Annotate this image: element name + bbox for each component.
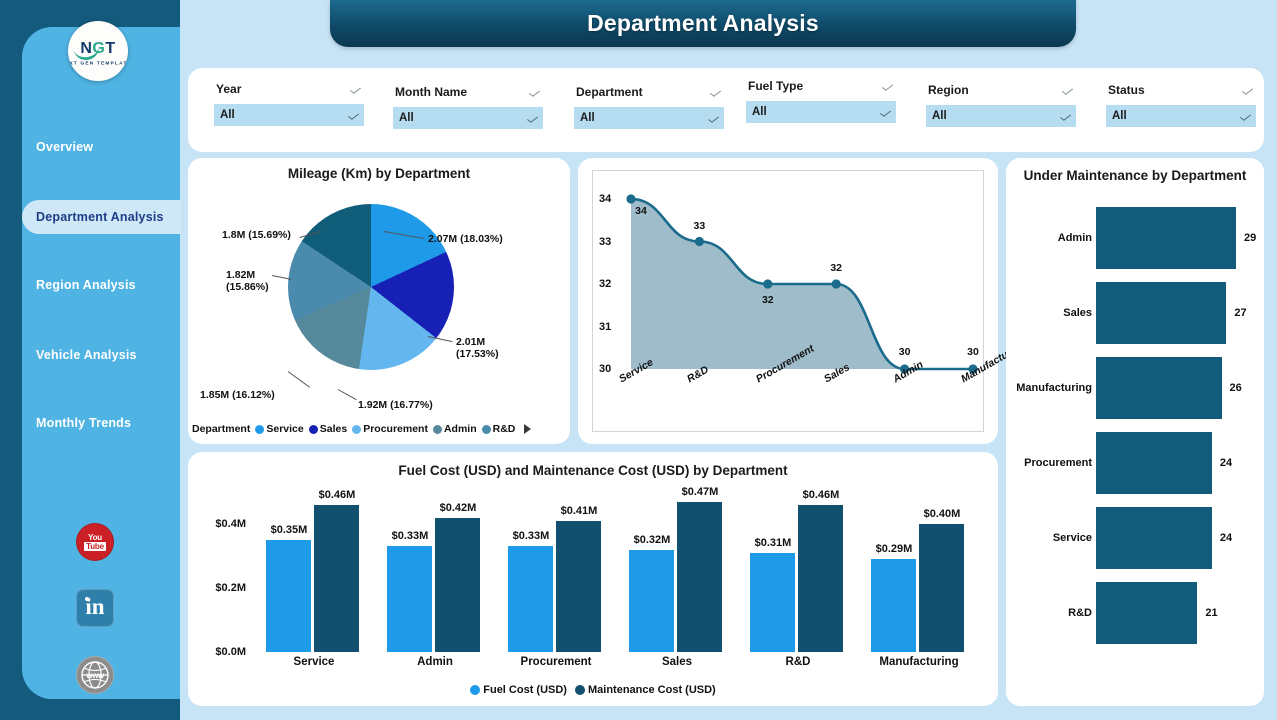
website-label: www [86, 671, 103, 680]
filter-status[interactable]: Status All [1106, 81, 1256, 127]
legend-label: Admin [444, 423, 477, 435]
chevron-down-icon[interactable] [529, 88, 540, 97]
filter-department-label-row: Department [574, 83, 724, 101]
sidebar-item-monthly-trends[interactable]: Monthly Trends [22, 406, 180, 440]
legend-swatch [255, 425, 264, 434]
sidebar-item-label: Department Analysis [36, 210, 164, 224]
sidebar-item-vehicle-analysis[interactable]: Vehicle Analysis [22, 338, 180, 372]
pie-disc[interactable] [288, 204, 454, 370]
filter-fuel-type[interactable]: Fuel Type All [746, 77, 896, 123]
bar-group[interactable]: $0.32M$0.47MSales [617, 492, 737, 652]
x-tick-label: Manufacturing [859, 656, 979, 668]
data-label: 30 [967, 346, 979, 358]
chevron-down-icon[interactable] [1240, 112, 1251, 121]
bar-value-label: 26 [1230, 382, 1242, 394]
data-label: 30 [899, 346, 911, 358]
legend-swatch [482, 425, 491, 434]
legend-item[interactable]: Admin [433, 423, 477, 435]
bar-row[interactable]: Sales27 [1006, 275, 1264, 351]
x-tick-label: Sales [617, 656, 737, 668]
bar-category-label: Procurement [1024, 457, 1092, 469]
dashboard-root: NGT NEXT GEN TEMPLATES Overview Departme… [0, 0, 1277, 720]
filter-month-select[interactable]: All [393, 107, 543, 129]
sidebar-item-department-analysis[interactable]: Department Analysis [22, 200, 180, 234]
bar[interactable] [629, 550, 674, 652]
filter-label: Status [1108, 83, 1145, 97]
youtube-label-bottom: Tube [84, 542, 106, 551]
legend-swatch [470, 685, 480, 695]
bar[interactable] [871, 559, 916, 652]
chevron-down-icon[interactable] [882, 82, 893, 91]
bar-value-label: $0.31M [741, 537, 805, 549]
bar-value-label: 24 [1220, 457, 1232, 469]
active-pill-cap [167, 200, 181, 234]
legend-label: R&D [493, 423, 516, 435]
chevron-down-icon[interactable] [1062, 86, 1073, 95]
bar-value-label: $0.40M [910, 508, 974, 520]
legend-label: Fuel Cost (USD) [483, 684, 567, 696]
pie-data-label: 1.85M (16.12%) [200, 389, 275, 401]
legend-swatch [433, 425, 442, 434]
bar[interactable] [266, 540, 311, 652]
bar-value-label: $0.32M [620, 534, 684, 546]
bar-value-label: 29 [1244, 232, 1256, 244]
bar-category-label: Sales [1063, 307, 1092, 319]
fuel-maintenance-cost-card: Fuel Cost (USD) and Maintenance Cost (US… [188, 452, 998, 706]
x-tick-label: Procurement [496, 656, 616, 668]
bar-value-label: $0.42M [426, 502, 490, 514]
filter-value: All [932, 110, 947, 122]
bar[interactable] [919, 524, 964, 652]
filter-year[interactable]: Year All [214, 80, 364, 126]
chart-title: Under Maintenance by Department [1006, 168, 1264, 183]
filter-value: All [399, 112, 414, 124]
bar-category-label: Manufacturing [1016, 382, 1092, 394]
bar[interactable] [1096, 357, 1222, 419]
linkedin-icon[interactable]: in [76, 589, 114, 627]
legend-item[interactable]: Sales [309, 423, 347, 435]
sidebar-item-overview[interactable]: Overview [22, 130, 180, 164]
filter-department-select[interactable]: All [574, 107, 724, 129]
bar[interactable] [1096, 282, 1226, 344]
legend-item[interactable]: R&D [482, 423, 516, 435]
legend-label: Service [266, 423, 303, 435]
bar[interactable] [556, 521, 601, 652]
bar[interactable] [1096, 582, 1197, 644]
under-maintenance-card: Under Maintenance by Department Admin29S… [1006, 158, 1264, 706]
chevron-down-icon[interactable] [1242, 86, 1253, 95]
bar-value-label: $0.33M [378, 530, 442, 542]
filter-year-select[interactable]: All [214, 104, 364, 126]
bar-row[interactable]: Admin29 [1006, 200, 1264, 276]
legend-title: Department [192, 423, 250, 435]
chart-title: Mileage (Km) by Department [188, 166, 570, 181]
pie-data-label: 1.8M (15.69%) [222, 229, 291, 241]
filter-label: Department [576, 85, 643, 99]
mileage-by-department-card: Mileage (Km) by Department 2.07M (18.03%… [188, 158, 570, 444]
pie-leader-line [288, 371, 311, 388]
chevron-down-icon[interactable] [708, 114, 719, 123]
legend-swatch [575, 685, 585, 695]
pie-legend: Department ServiceSalesProcurementAdminR… [188, 420, 570, 438]
y-tick-label: $0.4M [215, 518, 246, 530]
y-tick-label: $0.0M [215, 646, 246, 658]
page-title: Department Analysis [587, 10, 819, 37]
pie-leader-line [338, 389, 356, 400]
pie-data-label: 1.82M(15.86%) [226, 269, 269, 293]
filter-label: Fuel Type [748, 79, 803, 93]
bar[interactable] [1096, 507, 1212, 569]
chevron-down-icon[interactable] [348, 111, 359, 120]
sidebar-item-label: Vehicle Analysis [36, 348, 137, 362]
sidebar-item-label: Region Analysis [36, 278, 136, 292]
area-chart[interactable]: 3031323334 343332323030 ServiceR&DProcur… [592, 170, 984, 432]
logo-text: NGT [80, 41, 115, 57]
filter-fuel-label-row: Fuel Type [746, 77, 896, 95]
bar[interactable] [435, 518, 480, 652]
chart-title: Fuel Cost (USD) and Maintenance Cost (US… [188, 463, 998, 478]
grouped-bar-chart[interactable]: $0.0M$0.2M$0.4M $0.35M$0.46MService$0.33… [254, 492, 978, 652]
youtube-label-top: You [88, 534, 102, 542]
y-tick-label: $0.2M [215, 582, 246, 594]
x-tick-label: Admin [375, 656, 495, 668]
legend-item[interactable]: Service [255, 423, 303, 435]
bar-group[interactable]: $0.33M$0.41MProcurement [496, 492, 616, 652]
bar-value-label: 21 [1205, 607, 1217, 619]
legend-label: Procurement [363, 423, 428, 435]
bar-category-label: Admin [1058, 232, 1092, 244]
pie-data-label: 2.07M (18.03%) [428, 233, 503, 245]
brand-logo: NGT NEXT GEN TEMPLATES [68, 21, 128, 81]
filter-fuel-select[interactable]: All [746, 101, 896, 123]
bar-value-label: $0.41M [547, 505, 611, 517]
bar-group[interactable]: $0.33M$0.42MAdmin [375, 492, 495, 652]
filter-bar: Year All Month Name All Department [188, 68, 1264, 152]
legend-items: ServiceSalesProcurementAdminR&D [255, 423, 520, 435]
x-tick-label: R&D [738, 656, 858, 668]
chevron-down-icon[interactable] [880, 108, 891, 117]
chevron-down-icon[interactable] [527, 114, 538, 123]
bar[interactable] [508, 546, 553, 652]
filter-region-select[interactable]: All [926, 105, 1076, 127]
bar-row[interactable]: Manufacturing26 [1006, 350, 1264, 426]
pie-data-label: 2.01M(17.53%) [456, 336, 499, 360]
chevron-down-icon[interactable] [710, 88, 721, 97]
bar[interactable] [750, 553, 795, 652]
filter-year-label-row: Year [214, 80, 364, 98]
logo-tagline: NEXT GEN TEMPLATES [68, 60, 128, 66]
filter-value: All [1112, 110, 1127, 122]
legend-swatch [309, 425, 318, 434]
x-tick-label: Service [254, 656, 374, 668]
bar[interactable] [1096, 207, 1236, 269]
cost-legend: Fuel Cost (USD)Maintenance Cost (USD) [188, 684, 998, 696]
bar-value-label: $0.35M [257, 524, 321, 536]
bar-value-label: $0.33M [499, 530, 563, 542]
bar[interactable] [314, 505, 359, 652]
area-series [593, 171, 983, 431]
bar-category-label: R&D [1068, 607, 1092, 619]
legend-overflow-arrow-icon[interactable] [524, 424, 531, 434]
bar[interactable] [1096, 432, 1212, 494]
filter-month-label-row: Month Name [393, 83, 543, 101]
bar[interactable] [387, 546, 432, 652]
bar-row[interactable]: R&D21 [1006, 575, 1264, 651]
page-header: Department Analysis [330, 0, 1076, 47]
bar-group[interactable]: $0.31M$0.46MR&D [738, 492, 858, 652]
filter-department[interactable]: Department All [574, 83, 724, 129]
bar[interactable] [798, 505, 843, 652]
chevron-down-icon[interactable] [350, 85, 361, 94]
bar-value-label: $0.47M [668, 486, 732, 498]
sidebar-item-label: Overview [36, 140, 93, 154]
filter-region-label-row: Region [926, 81, 1076, 99]
bar-group[interactable]: $0.35M$0.46MService [254, 492, 374, 652]
sidebar-item-label: Monthly Trends [36, 416, 131, 430]
legend-label: Sales [320, 423, 347, 435]
active-vehicle-card: Active Vehicle by Department 3031323334 … [578, 158, 998, 444]
legend-swatch [352, 425, 361, 434]
filter-region[interactable]: Region All [926, 81, 1076, 127]
sidebar-item-region-analysis[interactable]: Region Analysis [22, 268, 180, 302]
data-label: 32 [762, 294, 774, 306]
data-label: 32 [830, 262, 842, 274]
bar-value-label: 24 [1220, 532, 1232, 544]
bar-category-label: Service [1053, 532, 1092, 544]
data-label: 34 [635, 205, 647, 217]
bar-value-label: $0.29M [862, 543, 926, 555]
filter-label: Year [216, 82, 241, 96]
bar[interactable] [677, 502, 722, 652]
filter-status-label-row: Status [1106, 81, 1256, 99]
bar-value-label: $0.46M [305, 489, 369, 501]
bar-row[interactable]: Service24 [1006, 500, 1264, 576]
website-globe-icon[interactable]: www [76, 656, 114, 694]
pie-chart[interactable]: 2.07M (18.03%)2.01M(17.53%)1.92M (16.77%… [188, 181, 570, 411]
youtube-icon[interactable]: You Tube [76, 523, 114, 561]
bar-value-label: $0.46M [789, 489, 853, 501]
linkedin-dot [85, 597, 89, 601]
filter-value: All [220, 109, 235, 121]
bar-value-label: 27 [1234, 307, 1246, 319]
pie-data-label: 1.92M (16.77%) [358, 399, 433, 411]
bar-row[interactable]: Procurement24 [1006, 425, 1264, 501]
data-label: 33 [694, 220, 706, 232]
filter-month-name[interactable]: Month Name All [393, 83, 543, 129]
filter-value: All [580, 112, 595, 124]
chevron-down-icon[interactable] [1060, 112, 1071, 121]
legend-item[interactable]: Fuel Cost (USD) [470, 684, 567, 696]
filter-label: Month Name [395, 85, 467, 99]
filter-status-select[interactable]: All [1106, 105, 1256, 127]
legend-item[interactable]: Procurement [352, 423, 428, 435]
legend-item[interactable]: Maintenance Cost (USD) [575, 684, 716, 696]
filter-label: Region [928, 83, 969, 97]
filter-value: All [752, 106, 767, 118]
legend-label: Maintenance Cost (USD) [588, 684, 716, 696]
bar-group[interactable]: $0.29M$0.40MManufacturing [859, 492, 979, 652]
